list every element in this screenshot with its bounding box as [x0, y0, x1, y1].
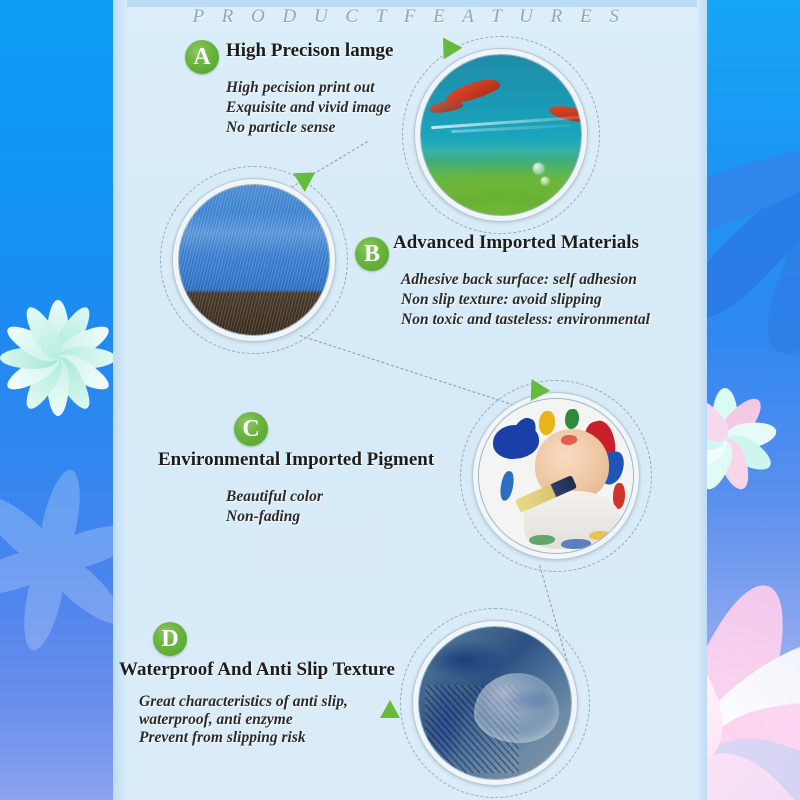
koi-fish-pond-photo — [414, 48, 588, 222]
feature-d-line-2: waterproof, anti enzyme — [139, 710, 293, 730]
feature-a-line-3: No particle sense — [226, 118, 335, 138]
badge-d: D — [153, 622, 187, 656]
feature-a-photo-wrap — [414, 48, 588, 222]
feature-c-heading: Environmental Imported Pigment — [158, 449, 434, 471]
feature-d-heading: Waterproof And Anti Slip Texture — [119, 659, 395, 681]
feature-a-line-2: Exquisite and vivid image — [226, 98, 391, 118]
feature-d-line-3: Prevent from slipping risk — [139, 728, 306, 748]
feature-d-arrow-icon — [380, 700, 400, 718]
left-decorative-band — [0, 0, 113, 800]
badge-c: C — [234, 412, 268, 446]
blue-fabric-material-photo — [172, 178, 336, 342]
feature-c-photo-wrap — [472, 392, 640, 560]
feature-b-line-3: Non toxic and tasteless: environmental — [401, 310, 650, 330]
feature-a-heading: High Precison lamge — [226, 40, 393, 62]
baby-painting-photo — [472, 392, 640, 560]
waterproof-droplet-photo — [412, 620, 578, 786]
feature-b-heading: Advanced Imported Materials — [393, 232, 639, 254]
badge-a: A — [185, 40, 219, 74]
page-title: P R O D U C T F E A T U R E S — [113, 6, 705, 28]
feature-b-line-2: Non slip texture: avoid slipping — [401, 290, 602, 310]
feature-c-line-1: Beautiful color — [226, 487, 323, 507]
feature-c-line-2: Non-fading — [226, 507, 300, 527]
product-features-infographic: P R O D U C T F E A T U R E S A High Pre… — [0, 0, 800, 800]
feature-b-photo-wrap — [172, 178, 336, 342]
feature-d-photo-wrap — [412, 620, 578, 786]
feature-b-line-1: Adhesive back surface: self adhesion — [401, 270, 637, 290]
right-band-fade — [697, 0, 707, 800]
right-decorative-band — [705, 0, 800, 800]
feature-a-line-1: High pecision print out — [226, 78, 375, 98]
feature-d-line-1: Great characteristics of anti slip, — [139, 692, 348, 712]
badge-b: B — [355, 237, 389, 271]
